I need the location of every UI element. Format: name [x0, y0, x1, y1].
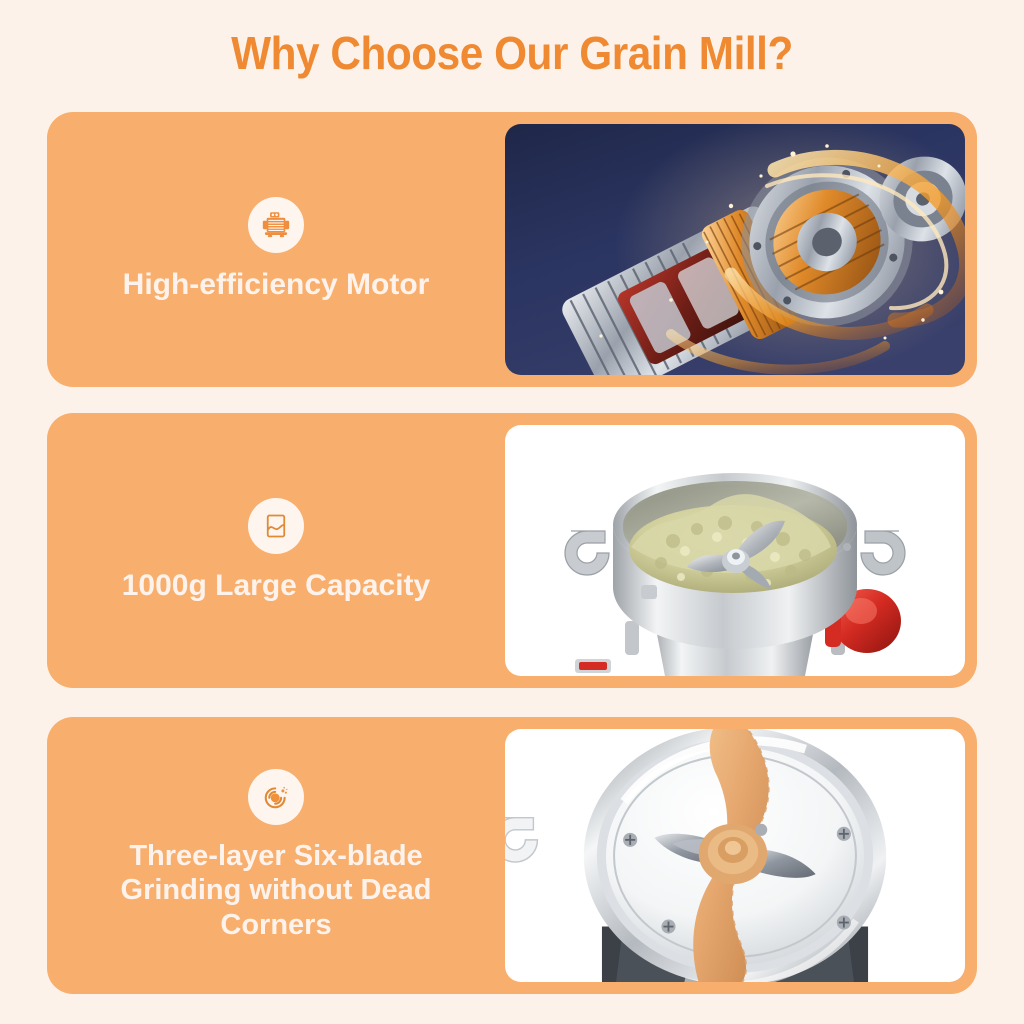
- feature-card-content: 1000g Large Capacity: [47, 413, 505, 688]
- six-blade-assembly-photo: [505, 729, 965, 982]
- capacity-icon: [248, 498, 304, 554]
- page-title: Why Choose Our Grain Mill?: [41, 26, 983, 80]
- feature-label: 1000g Large Capacity: [106, 568, 446, 603]
- feature-card-capacity: 1000g Large Capacity: [47, 413, 977, 688]
- feature-label: High-efficiency Motor: [107, 267, 446, 302]
- feature-card-content: High-efficiency Motor: [47, 112, 505, 387]
- infographic-page: Why Choose Our Grain Mill?: [0, 0, 1024, 1024]
- motor-closeup-photo: [505, 124, 965, 375]
- grinding-bowl-with-powder-photo: [505, 425, 965, 676]
- feature-card-blades: Three-layer Six-blade Grinding without D…: [47, 717, 977, 994]
- feature-card-content: Three-layer Six-blade Grinding without D…: [47, 717, 505, 994]
- feature-label: Three-layer Six-blade Grinding without D…: [60, 839, 492, 942]
- grinding-blades-icon: [248, 769, 304, 825]
- motor-icon: [248, 197, 304, 253]
- feature-card-motor: High-efficiency Motor: [47, 112, 977, 387]
